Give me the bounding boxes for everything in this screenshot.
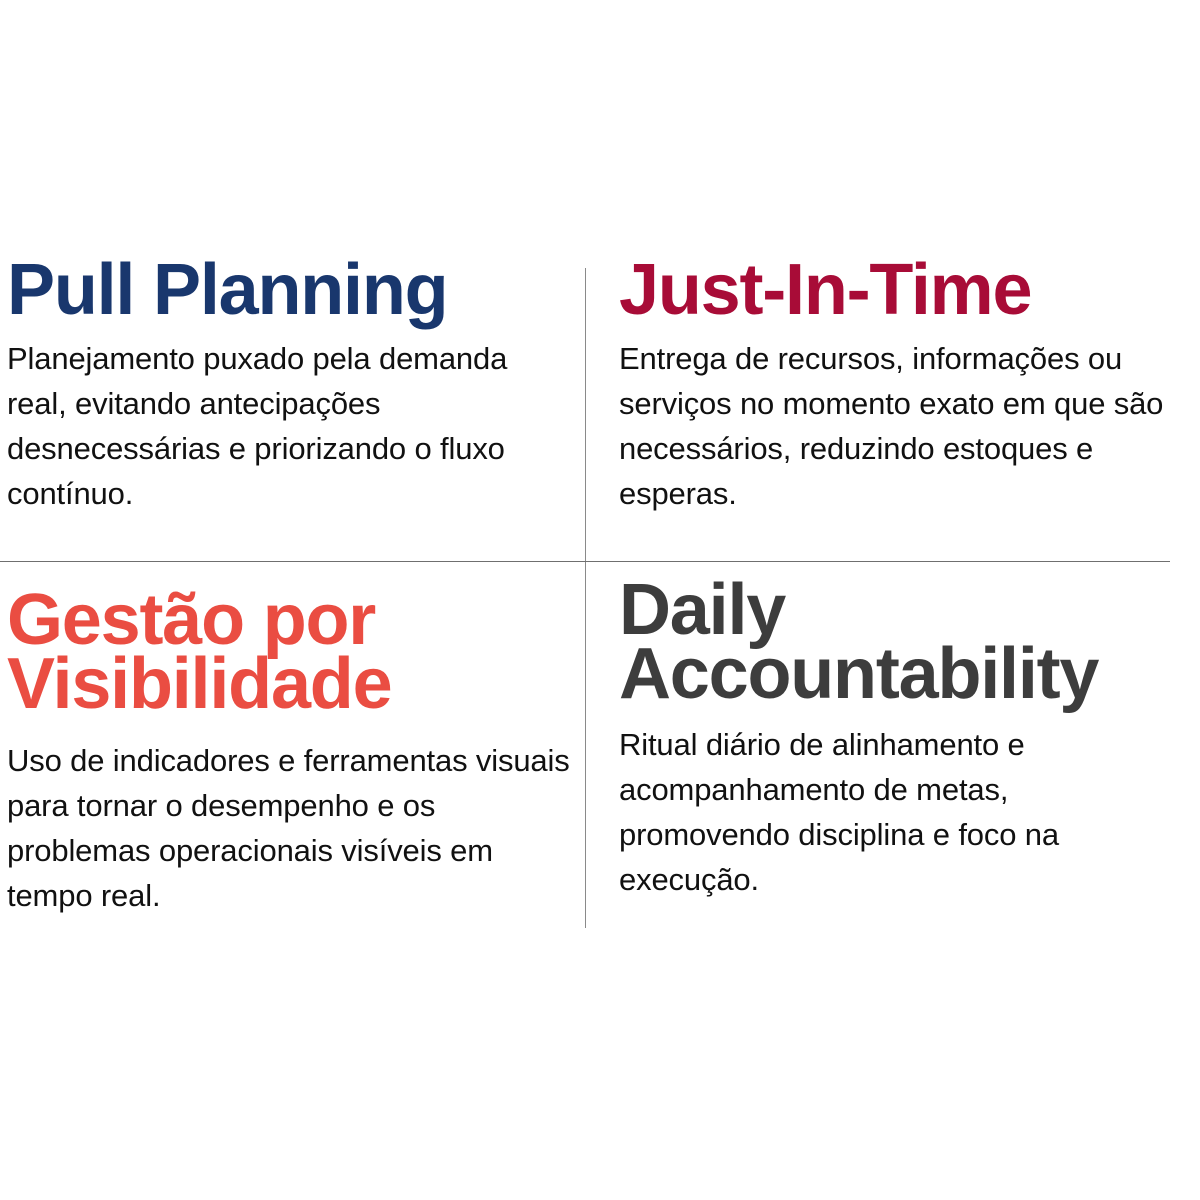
card-body-daily-accountability: Ritual diário de alinhamento e acompanha…: [619, 722, 1182, 902]
card-title-just-in-time: Just-In-Time: [619, 258, 1172, 322]
card-pull-planning: Pull Planning Planejamento puxado pela d…: [0, 258, 560, 548]
card-title-pull-planning: Pull Planning: [7, 258, 560, 322]
vertical-divider: [585, 268, 586, 928]
horizontal-divider: [0, 561, 1170, 562]
card-just-in-time: Just-In-Time Entrega de recursos, inform…: [612, 258, 1172, 548]
card-title-gestao-por-visibilidade: Gestão por Visibilidade: [7, 588, 575, 716]
card-gestao-por-visibilidade: Gestão por Visibilidade Uso de indicador…: [0, 588, 575, 918]
card-body-just-in-time: Entrega de recursos, informações ou serv…: [619, 336, 1172, 516]
slide-canvas: Pull Planning Planejamento puxado pela d…: [0, 0, 1200, 1200]
card-body-pull-planning: Planejamento puxado pela demanda real, e…: [7, 336, 560, 516]
card-title-daily-accountability: Daily Accountability: [619, 578, 1182, 706]
card-body-gestao-por-visibilidade: Uso de indicadores e ferramentas visuais…: [7, 738, 575, 918]
card-daily-accountability: Daily Accountability Ritual diário de al…: [612, 578, 1182, 918]
